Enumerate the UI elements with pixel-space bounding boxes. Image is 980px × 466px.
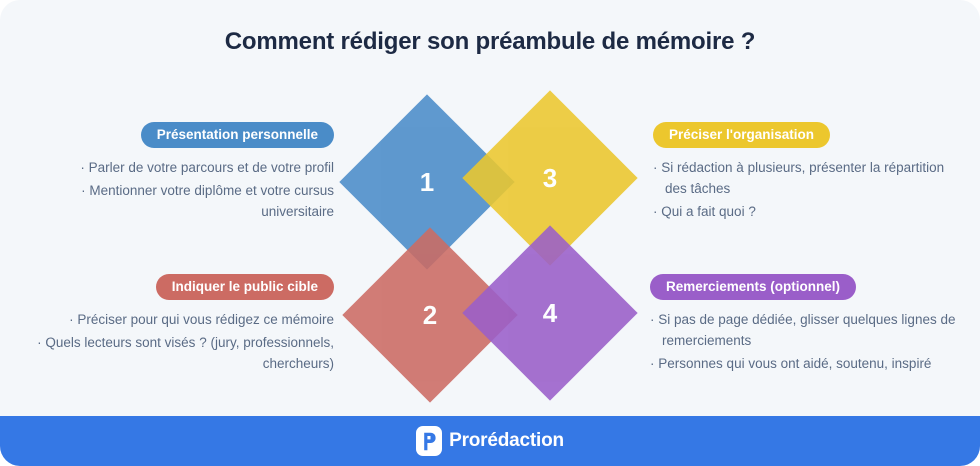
step-heading-4: Remerciements (optionnel): [650, 274, 856, 300]
list-item-text: Si pas de page dédiée, glisser quelques …: [658, 312, 955, 348]
step-heading-3: Préciser l'organisation: [653, 122, 830, 148]
diamond-number-3: 3: [488, 116, 612, 240]
list-item-text: Qui a fait quoi ?: [661, 204, 756, 219]
step-block-2: Indiquer le public cible · Préciser pour…: [14, 274, 334, 377]
step-items-1: · Parler de votre parcours et de votre p…: [14, 158, 334, 223]
list-item: · Parler de votre parcours et de votre p…: [14, 158, 334, 179]
brand-logo: Prorédaction: [416, 426, 564, 456]
list-item: · Mentionner votre diplôme et votre curs…: [14, 181, 334, 223]
list-item-text: Mentionner votre diplôme et votre cursus…: [89, 183, 334, 219]
step-block-3: Préciser l'organisation · Si rédaction à…: [653, 122, 953, 225]
step-items-4: · Si pas de page dédiée, glisser quelque…: [650, 310, 962, 375]
bullet-icon: ·: [650, 356, 655, 371]
infographic-card: Comment rédiger son préambule de mémoire…: [0, 0, 980, 466]
brand-name: Prorédaction: [449, 430, 564, 452]
bullet-icon: ·: [81, 183, 86, 198]
list-item: · Personnes qui vous ont aidé, soutenu, …: [650, 354, 962, 375]
list-item: · Qui a fait quoi ?: [653, 202, 953, 223]
list-item: · Quels lecteurs sont visés ? (jury, pro…: [14, 333, 334, 375]
list-item-text: Quels lecteurs sont visés ? (jury, profe…: [45, 335, 334, 371]
diamond-step-4: 4: [462, 225, 637, 400]
step-block-4: Remerciements (optionnel) · Si pas de pa…: [650, 274, 962, 377]
step-block-1: Présentation personnelle · Parler de vot…: [14, 122, 334, 225]
footer-bar: Prorédaction: [0, 416, 980, 466]
list-item: · Préciser pour qui vous rédigez ce mémo…: [14, 310, 334, 331]
list-item-text: Préciser pour qui vous rédigez ce mémoir…: [77, 312, 334, 327]
prorredaction-p-logo-icon: [416, 426, 442, 456]
step-items-3: · Si rédaction à plusieurs, présenter la…: [653, 158, 953, 223]
step-items-2: · Préciser pour qui vous rédigez ce mémo…: [14, 310, 334, 375]
list-item: · Si pas de page dédiée, glisser quelque…: [650, 310, 962, 352]
list-item-text: Personnes qui vous ont aidé, soutenu, in…: [658, 356, 931, 371]
bullet-icon: ·: [653, 160, 658, 175]
list-item: · Si rédaction à plusieurs, présenter la…: [653, 158, 953, 200]
bullet-icon: ·: [69, 312, 74, 327]
list-item-text: Parler de votre parcours et de votre pro…: [89, 160, 334, 175]
diamond-number-4: 4: [488, 251, 612, 375]
list-item-text: Si rédaction à plusieurs, présenter la r…: [661, 160, 944, 196]
bullet-icon: ·: [653, 204, 658, 219]
bullet-icon: ·: [37, 335, 42, 350]
bullet-icon: ·: [80, 160, 85, 175]
step-heading-1: Présentation personnelle: [141, 122, 334, 148]
bullet-icon: ·: [650, 312, 655, 327]
step-heading-2: Indiquer le public cible: [156, 274, 334, 300]
